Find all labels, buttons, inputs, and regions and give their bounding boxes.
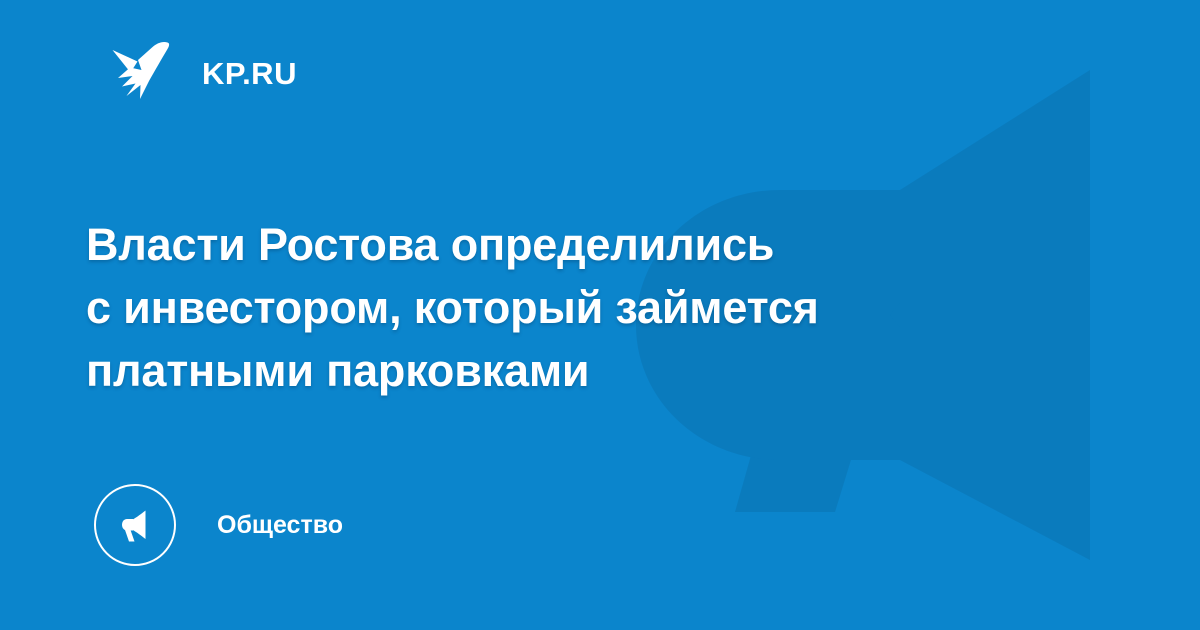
swallow-bird-icon <box>104 37 176 109</box>
rubric-label: Общество <box>217 513 343 538</box>
social-share-card: KP.RU Власти Ростова определились с инве… <box>0 0 1200 630</box>
brand-name: KP.RU <box>202 58 297 89</box>
headline-line-2: с инвестором, который займется <box>86 276 1046 339</box>
headline-line-1: Власти Ростова определились <box>86 213 1046 276</box>
brand-header[interactable]: KP.RU <box>104 36 297 110</box>
rubric-badge <box>94 484 176 566</box>
megaphone-icon <box>115 505 155 545</box>
headline: Власти Ростова определились с инвестором… <box>86 213 1046 402</box>
headline-line-3: платными парковками <box>86 339 1046 402</box>
rubric[interactable]: Общество <box>94 484 343 566</box>
